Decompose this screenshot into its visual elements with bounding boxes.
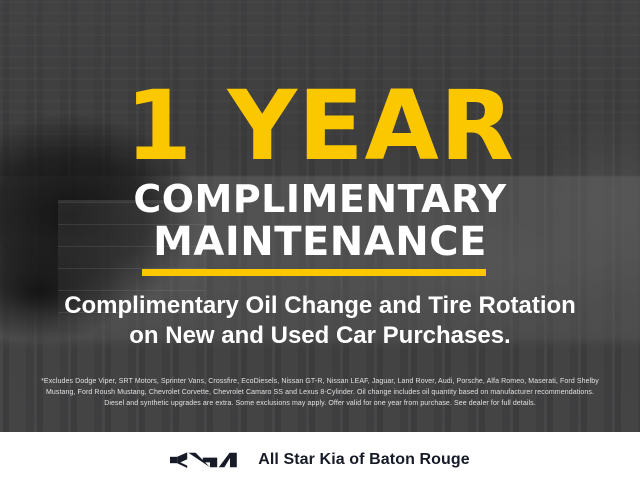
disclaimer-line-2: Mustang, Ford Roush Mustang, Chevrolet C…: [0, 387, 640, 398]
headline-block: 1 YEAR COMPLIMENTARY MAINTENANCE Complim…: [0, 0, 640, 432]
headline-year: 1 YEAR: [0, 78, 640, 174]
subhead-line-1: Complimentary Oil Change and Tire Rotati…: [0, 292, 640, 320]
kia-logo-icon: [170, 450, 242, 470]
dealer-name-label: All Star Kia of Baton Rouge: [258, 451, 470, 469]
subhead-line-2: on New and Used Car Purchases.: [0, 322, 640, 350]
promo-ad: 1 YEAR COMPLIMENTARY MAINTENANCE Complim…: [0, 0, 640, 488]
hero-banner: 1 YEAR COMPLIMENTARY MAINTENANCE Complim…: [0, 0, 640, 432]
headline-maintenance: MAINTENANCE: [0, 222, 640, 262]
headline-complimentary: COMPLIMENTARY: [0, 180, 640, 218]
footer-logo-group: All Star Kia of Baton Rouge: [170, 450, 470, 470]
disclaimer-line-3: Diesel and synthetic upgrades are extra.…: [0, 398, 640, 409]
disclaimer-line-1: *Excludes Dodge Viper, SRT Motors, Sprin…: [0, 376, 640, 387]
dealer-footer: All Star Kia of Baton Rouge: [0, 432, 640, 488]
disclaimer-text: *Excludes Dodge Viper, SRT Motors, Sprin…: [0, 376, 640, 409]
yellow-divider-bar: [142, 269, 486, 276]
